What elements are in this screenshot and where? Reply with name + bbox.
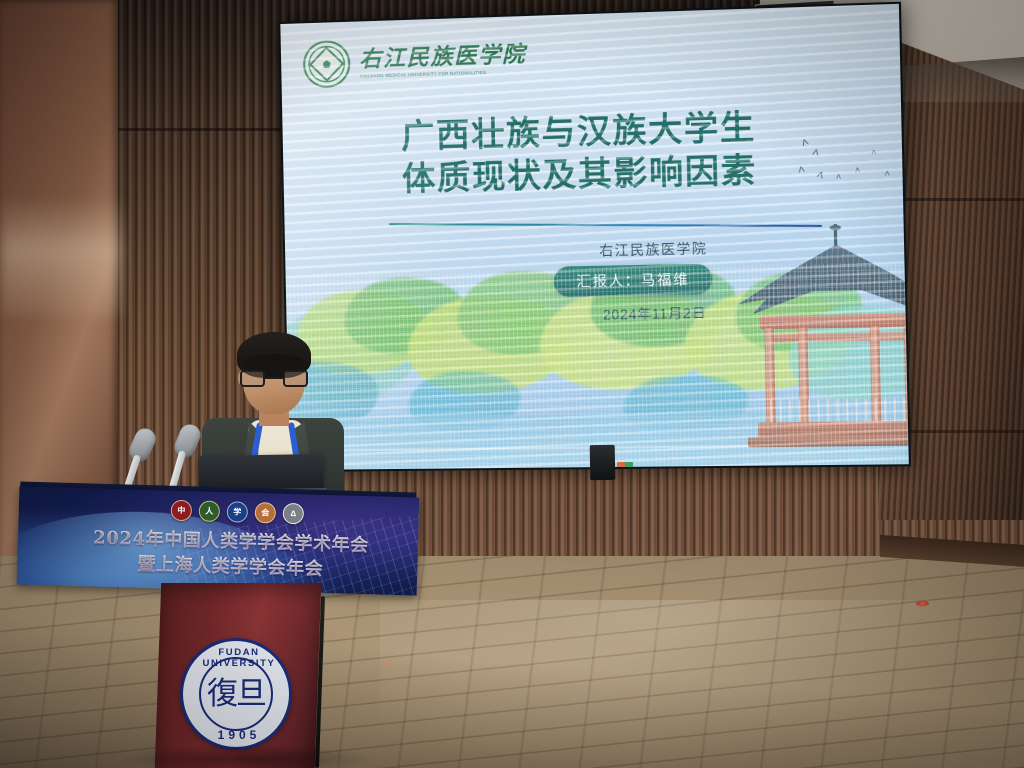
banner-emblem-row: 中 人 学 会 Δ xyxy=(171,500,305,525)
glasses-lens-right xyxy=(283,370,308,387)
laser-pointer-dot-secondary xyxy=(383,660,392,664)
presenter-badge: 汇报人：马福维 xyxy=(554,264,713,298)
glasses-lens-left xyxy=(240,370,265,387)
slide-surface: ˄ ˄ ˄ ˄ ˄ ˄ ˄ ˄ 右江民族医学院 YOUJIANG MEDICAL… xyxy=(280,4,908,470)
led-presentation-screen: ˄ ˄ ˄ ˄ ˄ ˄ ˄ ˄ 右江民族医学院 YOUJIANG MEDICAL… xyxy=(278,2,911,472)
slide-date: 2024年11月2日 xyxy=(541,300,769,324)
pavilion-platform xyxy=(748,435,909,447)
fudan-seal-arc-top: FUDAN UNIVERSITY xyxy=(183,647,295,669)
emblem-blue: 学 xyxy=(227,501,249,523)
emblem-white: Δ xyxy=(283,503,305,525)
podium-banner: 中 人 学 会 Δ 2024年中国人类学学会学术年会 暨上海人类学学会年会 xyxy=(17,486,420,595)
institution-logo: 右江民族医学院 YOUJIANG MEDICAL UNIVERSITY FOR … xyxy=(303,34,527,88)
glasses-bridge xyxy=(265,377,283,379)
wall-light-reflection xyxy=(0,196,122,316)
av-receiver-box xyxy=(590,445,616,480)
conference-photo-scene: ˄ ˄ ˄ ˄ ˄ ˄ ˄ ˄ 右江民族医学院 YOUJIANG MEDICAL… xyxy=(0,0,1024,768)
floor-reflection xyxy=(380,600,1024,768)
pavilion-railing xyxy=(770,398,909,422)
emblem-red: 中 xyxy=(171,500,193,522)
laser-pointer-dot xyxy=(916,601,929,606)
university-seal-icon xyxy=(303,40,351,89)
av-receiver-indicator-lights xyxy=(617,462,633,467)
pavilion-beam xyxy=(760,313,909,329)
pavilion-beam-lower xyxy=(769,332,909,342)
institution-logo-chinese: 右江民族医学院 xyxy=(359,43,526,70)
fudan-university-seal: FUDAN UNIVERSITY 復旦 1905 xyxy=(180,638,292,750)
speaker-glasses xyxy=(240,370,308,387)
emblem-green: 人 xyxy=(199,500,221,522)
fudan-seal-arc-bottom: 1905 xyxy=(183,728,295,742)
slide-title: 广西壮族与汉族大学生 体质现状及其影响因素 xyxy=(401,104,836,200)
emblem-orange: 会 xyxy=(255,502,277,524)
podium-floor-shadow xyxy=(120,745,370,768)
